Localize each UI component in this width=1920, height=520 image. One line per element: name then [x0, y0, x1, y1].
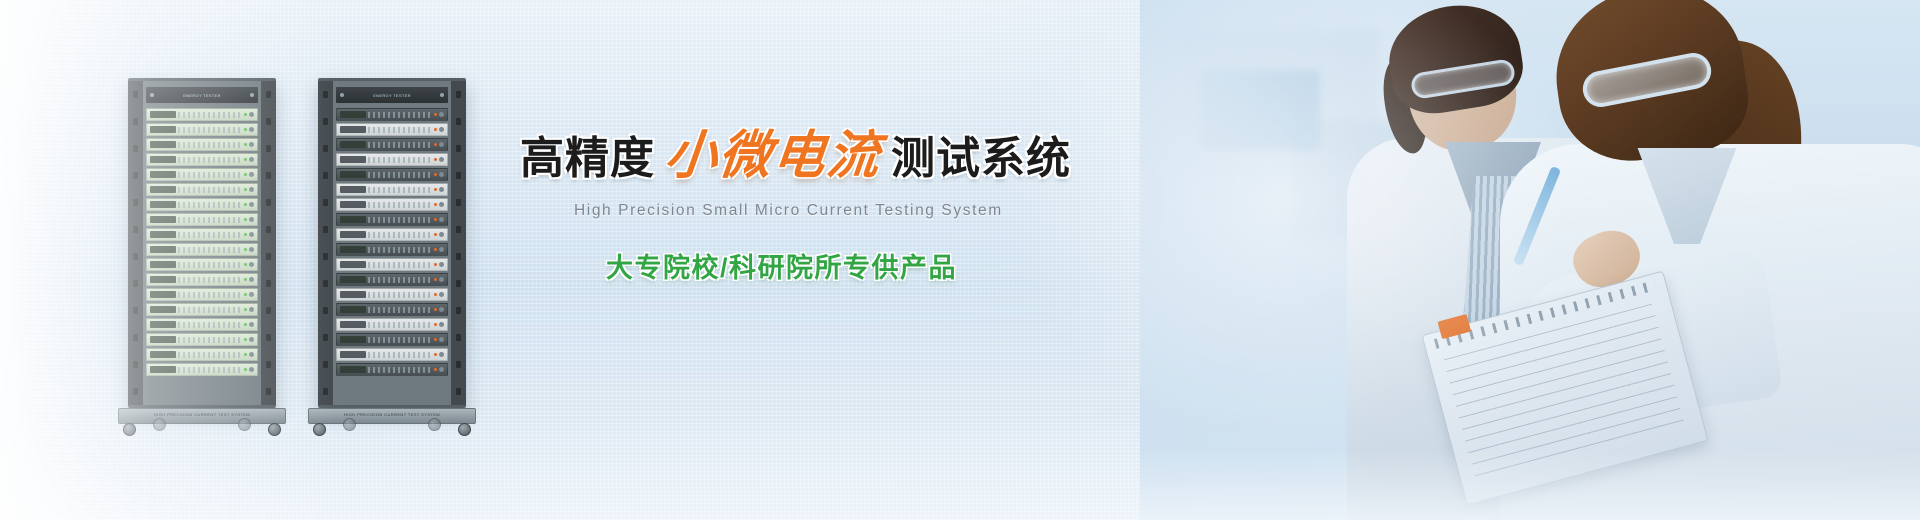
banner-headline: 高精度 小微电流 测试系统: [520, 130, 1040, 182]
caster-wheel: [343, 418, 356, 431]
rack-frame: ENERGY TESTER: [318, 78, 466, 408]
rack-unit: [336, 303, 448, 316]
rack-unit: [336, 243, 448, 256]
rack-unit: [336, 273, 448, 286]
instrument-rack-right: ENERGY TESTER HIGH PRECISION CURRENT TES…: [318, 78, 476, 424]
rack-unit: [336, 363, 448, 376]
headline-accent: 小微电流: [662, 130, 883, 182]
banner-text-block: 高精度 小微电流 测试系统 High Precision Small Micro…: [520, 130, 1040, 285]
rack-unit: [336, 153, 448, 166]
rack-unit: [336, 198, 448, 211]
rack-unit: [336, 138, 448, 151]
headline-prefix: 高精度: [520, 137, 655, 181]
rack-unit: [336, 168, 448, 181]
rack-header-panel: ENERGY TESTER: [336, 87, 448, 103]
banner-tagline-chinese: 大专院校/科研院所专供产品: [606, 246, 1040, 285]
rack-unit: [336, 333, 448, 346]
rack-rail: [451, 81, 466, 405]
photo-bottom-fade: [1140, 450, 1920, 520]
rack-unit: [336, 213, 448, 226]
rack-base-label: HIGH PRECISION CURRENT TEST SYSTEM: [344, 412, 440, 417]
rack-unit: [336, 288, 448, 301]
rack-unit: [336, 228, 448, 241]
rack-unit: [336, 318, 448, 331]
rack-unit: [336, 258, 448, 271]
promo-banner: ENERGY TESTER HIGH PRECISION CURRENT TES…: [0, 0, 1920, 520]
rack-unit: [336, 108, 448, 121]
banner-subtitle-english: High Precision Small Micro Current Testi…: [574, 202, 1040, 220]
caster-wheel: [428, 418, 441, 431]
background-glow: [980, 0, 1600, 460]
rack-head-label: ENERGY TESTER: [373, 93, 411, 98]
rack-unit: [336, 183, 448, 196]
left-vignette: [0, 0, 340, 520]
caster-wheel: [458, 423, 471, 436]
rack-unit: [336, 348, 448, 361]
headline-suffix: 测试系统: [891, 137, 1071, 181]
rack-unit: [336, 123, 448, 136]
